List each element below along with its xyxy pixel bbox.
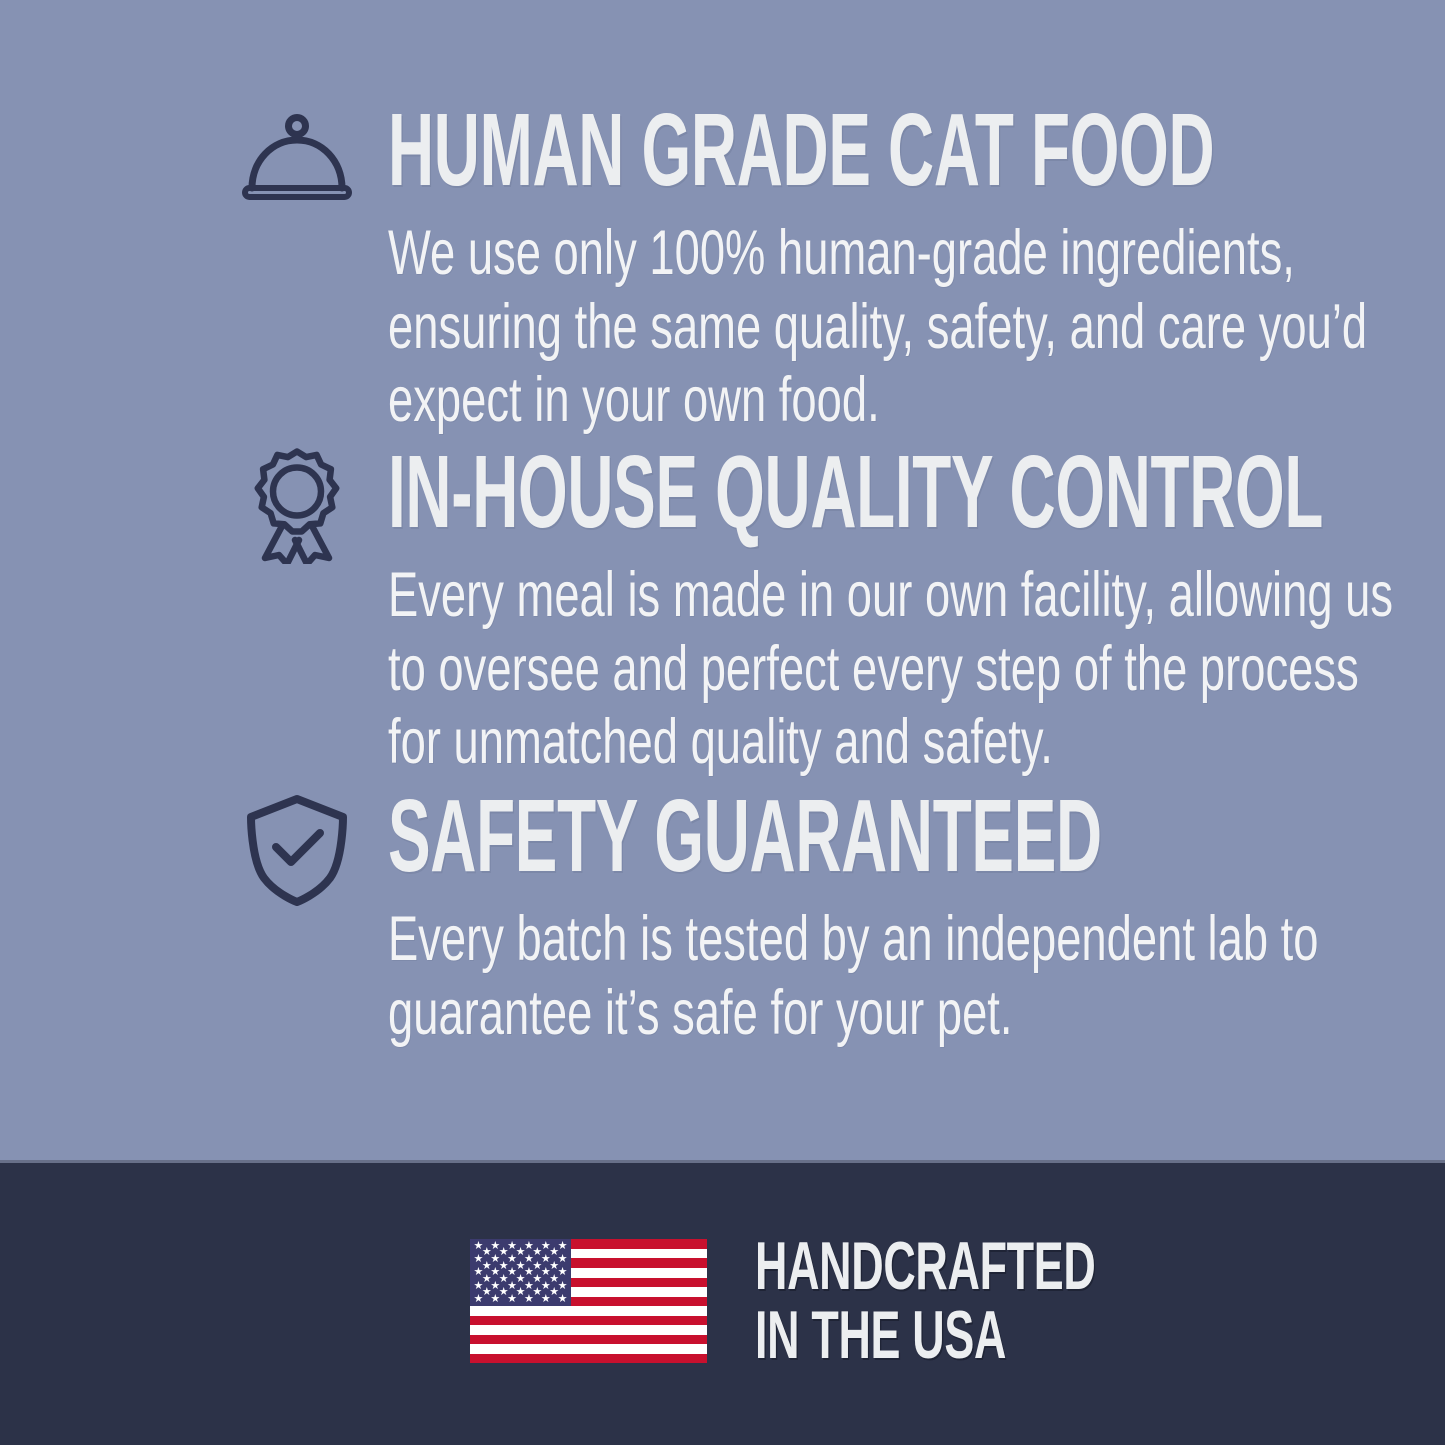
feature-heading: IN-HOUSE QUALITY CONTROL [388, 442, 1008, 543]
flag-star: ★ [540, 1294, 551, 1305]
flag-star: ★ [490, 1294, 501, 1305]
flag-star: ★ [557, 1294, 568, 1305]
feature-heading: SAFETY GUARANTEED [388, 786, 1008, 887]
feature-body-line: expect in your own food. [388, 364, 1194, 438]
feature-body: Every batch is tested by an independent … [388, 887, 1194, 1050]
feature-body: Every meal is made in our own facility, … [388, 543, 1194, 780]
flag-star: ★ [523, 1294, 534, 1305]
award-ribbon-icon [238, 446, 356, 564]
features-panel: HUMAN GRADE CAT FOOD We use only 100% hu… [0, 0, 1445, 1160]
feature-body-line: We use only 100% human-grade ingredients… [388, 217, 1194, 291]
feature-body-line: Every meal is made in our own facility, … [388, 559, 1194, 633]
flag-star: ★ [473, 1294, 484, 1305]
feature-body-line: to oversee and perfect every step of the… [388, 633, 1194, 707]
flag-stripe [470, 1344, 707, 1354]
feature-text-safety-guaranteed: SAFETY GUARANTEED Every batch is tested … [388, 786, 1388, 1050]
banner-divider [0, 1160, 1445, 1163]
flag-stripe [470, 1335, 707, 1345]
infographic-canvas: HUMAN GRADE CAT FOOD We use only 100% hu… [0, 0, 1445, 1445]
flag-stripe [470, 1306, 707, 1316]
flag-stripe [470, 1316, 707, 1326]
feature-body-line: Every batch is tested by an independent … [388, 903, 1194, 977]
feature-text-human-grade: HUMAN GRADE CAT FOOD We use only 100% hu… [388, 100, 1388, 438]
flag-stripe [470, 1325, 707, 1335]
feature-body-line: ensuring the same quality, safety, and c… [388, 291, 1194, 365]
usa-caption-line: IN THE USA [755, 1301, 1095, 1370]
usa-caption: HANDCRAFTED IN THE USA [755, 1232, 1271, 1371]
flag-stripe [470, 1354, 707, 1364]
flag-star: ★ [507, 1294, 518, 1305]
feature-body-line: guarantee it’s safe for your pet. [388, 977, 1194, 1051]
feature-body: We use only 100% human-grade ingredients… [388, 201, 1194, 438]
flag-canton: ★★★★★★★★★★★★★★★★★★★★★★★★★★★★★★★★★★★★★★★★… [470, 1239, 571, 1306]
feature-text-in-house-quality-control: IN-HOUSE QUALITY CONTROL Every meal is m… [388, 442, 1388, 780]
feature-heading: HUMAN GRADE CAT FOOD [388, 100, 1008, 201]
feature-body-line: for unmatched quality and safety. [388, 706, 1194, 780]
usa-flag-icon: ★★★★★★★★★★★★★★★★★★★★★★★★★★★★★★★★★★★★★★★★… [470, 1239, 707, 1363]
shield-check-icon [238, 790, 356, 908]
banner-content: ★★★★★★★★★★★★★★★★★★★★★★★★★★★★★★★★★★★★★★★★… [470, 1232, 1271, 1371]
cloche-icon [238, 104, 356, 222]
usa-caption-line: HANDCRAFTED [755, 1232, 1095, 1301]
usa-banner: ★★★★★★★★★★★★★★★★★★★★★★★★★★★★★★★★★★★★★★★★… [0, 1160, 1445, 1445]
